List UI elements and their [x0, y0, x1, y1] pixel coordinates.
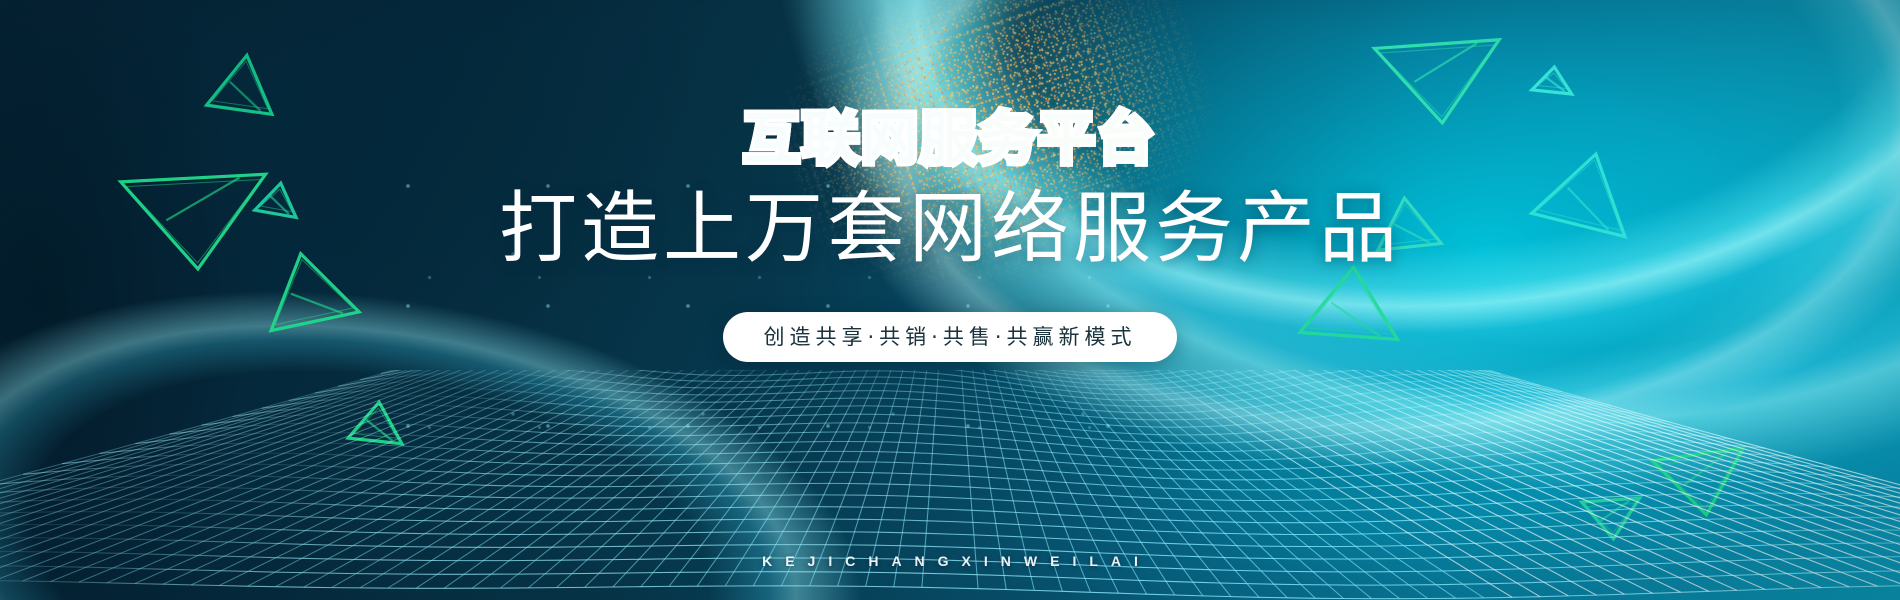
hero-title-secondary: 打造上万套网络服务产品 — [499, 186, 1401, 272]
light-ribbon-3 — [747, 0, 1900, 532]
triangle-right-far-icon — [1367, 189, 1447, 256]
triangle-left-lower-icon — [251, 238, 365, 337]
triangle-right-mid-icon — [1525, 136, 1648, 243]
hero-title-primary: 互联网服务平台 — [738, 110, 1163, 170]
background-wash-center — [0, 0, 1900, 600]
light-ribbon-2 — [631, 0, 1900, 600]
background-wash-left — [0, 0, 1900, 600]
hero-text-stack: 互联网服务平台 打造上万套网络服务产品 创造共享·共销·共售·共赢新模式 — [0, 0, 1900, 600]
triangle-bottom-right-b-icon — [1576, 492, 1647, 547]
triangle-left-tiny-icon — [249, 174, 308, 224]
hero-subtitle-pill[interactable]: 创造共享·共销·共售·共赢新模式 — [723, 312, 1176, 362]
light-ribbon-1 — [677, 0, 1900, 496]
light-ribbon-4 — [0, 196, 954, 600]
triangle-right-low-icon — [1294, 258, 1407, 345]
triangle-right-upper-icon — [1369, 33, 1510, 132]
background-wash-edge — [0, 0, 1900, 600]
triangle-left-large-icon — [115, 168, 275, 278]
triangle-right-tiny-icon — [1526, 59, 1579, 100]
vignette-overlay — [0, 0, 1900, 600]
triangle-bottom-left-icon — [343, 394, 412, 450]
pinyin-footer-text: KEJICHANGXINWEILAI — [0, 553, 1900, 569]
gold-particle-glow — [749, 0, 1250, 347]
hero-banner: 互联网服务平台 打造上万套网络服务产品 创造共享·共销·共售·共赢新模式 KEJ… — [0, 0, 1900, 600]
triangle-top-left-small-icon — [201, 45, 285, 121]
triangle-bottom-right-a-icon — [1646, 441, 1757, 526]
gold-particle-cloud — [749, 0, 1250, 347]
